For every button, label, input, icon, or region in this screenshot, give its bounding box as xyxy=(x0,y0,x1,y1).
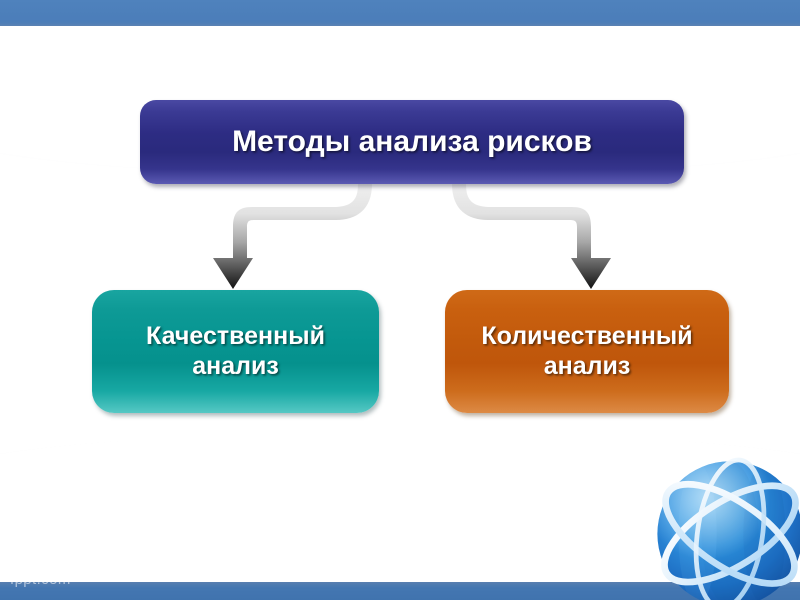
slide-canvas: fppt.com xyxy=(0,0,800,600)
node-quantitative-label: Количественный анализ xyxy=(481,322,692,381)
node-qualitative-analysis[interactable]: Качественный анализ xyxy=(92,290,379,413)
node-qualitative-line2: анализ xyxy=(146,352,325,382)
fppt-watermark: fppt.com xyxy=(10,571,71,588)
node-title-label: Методы анализа рисков xyxy=(232,124,592,159)
node-qualitative-label: Качественный анализ xyxy=(146,322,325,381)
node-title-methods[interactable]: Методы анализа рисков xyxy=(140,100,684,184)
node-quantitative-line1: Количественный xyxy=(481,322,692,352)
node-quantitative-line2: анализ xyxy=(481,352,692,382)
globe-icon xyxy=(644,446,800,600)
arrow-to-quantitative xyxy=(452,184,611,289)
node-qualitative-line1: Качественный xyxy=(146,322,325,352)
node-quantitative-analysis[interactable]: Количественный анализ xyxy=(445,290,729,413)
arrow-to-qualitative xyxy=(213,184,372,289)
